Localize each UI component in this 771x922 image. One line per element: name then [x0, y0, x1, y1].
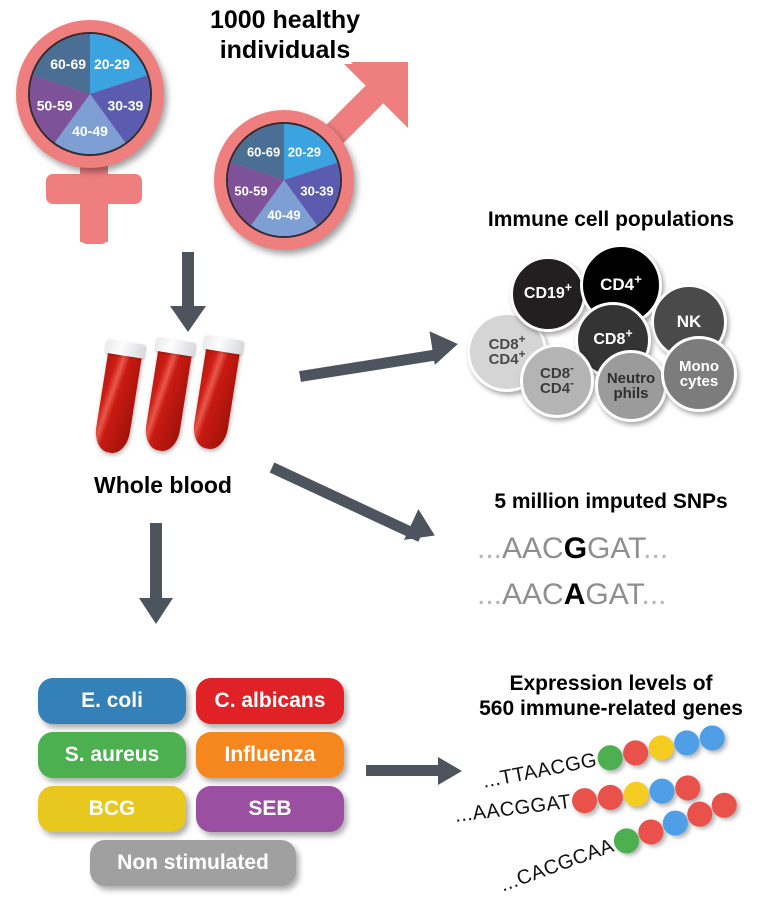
pie-slice-label: 50-59: [37, 97, 73, 113]
pie-slice-label: 20-29: [288, 144, 321, 159]
snp-post: GAT: [587, 532, 643, 565]
stimulus-c-albicans[interactable]: C. albicans: [196, 678, 344, 724]
snp-pre: AAC: [502, 578, 564, 611]
bead-yellow: [646, 733, 675, 762]
pie-slice-label: 30-39: [300, 183, 333, 198]
snp-sequence-row: ...AACGGAT...: [477, 532, 668, 566]
pie-slice-label: 60-69: [50, 56, 86, 72]
female-stem-rounded: [80, 192, 108, 244]
expression-strand-sequence: ...AACGGAT: [454, 791, 573, 828]
expression-title: Expression levels of 560 immune-related …: [455, 672, 767, 722]
snp-title: 5 million imputed SNPs: [455, 490, 767, 515]
immune-cell-monocytes: Monocytes: [661, 336, 737, 412]
bead-red: [596, 783, 624, 811]
immune-cell-neutrophils: Neutrophils: [595, 350, 667, 422]
immune-cell-label: CD19+: [524, 286, 572, 302]
stimulus-seb[interactable]: SEB: [196, 786, 344, 832]
immune-cell-cd19p: CD19+: [510, 256, 586, 332]
tube-body: [143, 346, 193, 453]
bead-green: [595, 743, 624, 772]
female-age-pie: 20-2930-3940-4950-5960-69: [28, 32, 152, 156]
snp-sequence-row: ...AACAGAT...: [477, 578, 667, 612]
tube-body: [93, 348, 143, 455]
pie-slice-label: 40-49: [72, 123, 108, 139]
immune-title: Immune cell populations: [455, 208, 767, 233]
snp-prefix: ...: [477, 578, 502, 611]
expression-strand-sequence: ...TTAACGG: [481, 749, 599, 794]
snp-suffix: ...: [642, 578, 667, 611]
snp-post: GAT: [585, 578, 641, 611]
age-distribution-pie: 20-2930-3940-4950-5960-69: [228, 124, 340, 236]
stimulus-bcg[interactable]: BCG: [38, 786, 186, 832]
expression-strands: ...TTAACGG ...AACGGAT ...CACGCAA: [455, 726, 771, 916]
expression-title-line1: Expression levels of: [455, 672, 767, 697]
bead-red: [621, 738, 650, 767]
snp-variant: A: [564, 578, 586, 611]
cohort-title: 1000 healthy individuals: [180, 6, 390, 65]
snp-variant: G: [564, 532, 587, 565]
blood-tube: [143, 337, 194, 453]
male-age-pie: 20-2930-3940-4950-5960-69: [226, 122, 342, 238]
immune-cell-label: CD8+: [593, 332, 632, 348]
snp-suffix: ...: [643, 532, 668, 565]
stimulus-e-coli[interactable]: E. coli: [38, 678, 186, 724]
bead-red: [571, 787, 599, 815]
bead-blue: [648, 777, 676, 805]
cohort-title-line2: individuals: [180, 36, 390, 66]
whole-blood-label: Whole blood: [58, 472, 268, 499]
stimulation-panel: E. coli C. albicans S. aureus Influenza …: [38, 678, 348, 898]
expression-strand-sequence: ...CACGCAA: [497, 835, 617, 898]
bead-blue: [697, 723, 726, 752]
immune-cell-cluster: CD8+ CD4+ CD19+ CD4+ NK CD8+ CD8- CD4- N…: [455, 240, 767, 410]
immune-cell-label: NK: [677, 313, 702, 330]
bead-blue: [672, 728, 701, 757]
pie-slice-label: 50-59: [234, 183, 267, 198]
tube-body: [191, 344, 241, 451]
immune-cell-label: CD4+: [600, 276, 642, 293]
blood-tube: [93, 339, 144, 455]
snp-sequences: ...AACGGAT... ...AACAGAT...: [455, 528, 767, 624]
bead-red: [674, 774, 702, 802]
blood-tubes: [104, 336, 284, 466]
immune-cell-cd8n-cd4n: CD8- CD4-: [520, 344, 594, 418]
female-symbol: 20-2930-3940-4950-5960-69: [8, 12, 188, 252]
stimulus-influenza[interactable]: Influenza: [196, 732, 344, 778]
expression-beads: [594, 723, 726, 772]
bead-red: [708, 789, 740, 821]
pie-slice-label: 60-69: [247, 144, 280, 159]
expression-title-line2: 560 immune-related genes: [455, 697, 767, 722]
snp-prefix: ...: [477, 532, 502, 565]
snp-pre: AAC: [502, 532, 564, 565]
pie-slice-label: 40-49: [267, 207, 300, 222]
blood-tube: [191, 335, 242, 451]
immune-cell-label: Neutrophils: [607, 371, 655, 402]
pie-slice-label: 20-29: [94, 56, 130, 72]
age-distribution-pie: 20-2930-3940-4950-5960-69: [30, 34, 150, 154]
immune-cell-label: Monocytes: [679, 359, 719, 390]
pie-slice-label: 30-39: [107, 97, 143, 113]
stimulus-non-stimulated[interactable]: Non stimulated: [90, 840, 296, 886]
bead-yellow: [622, 780, 650, 808]
immune-cell-label: CD8- CD4-: [540, 366, 574, 397]
stimulus-s-aureus[interactable]: S. aureus: [38, 732, 186, 778]
immune-cell-label: CD8+ CD4+: [489, 337, 526, 368]
male-symbol: 20-2930-3940-4950-5960-69: [204, 62, 420, 258]
cohort-title-line1: 1000 healthy: [180, 6, 390, 36]
